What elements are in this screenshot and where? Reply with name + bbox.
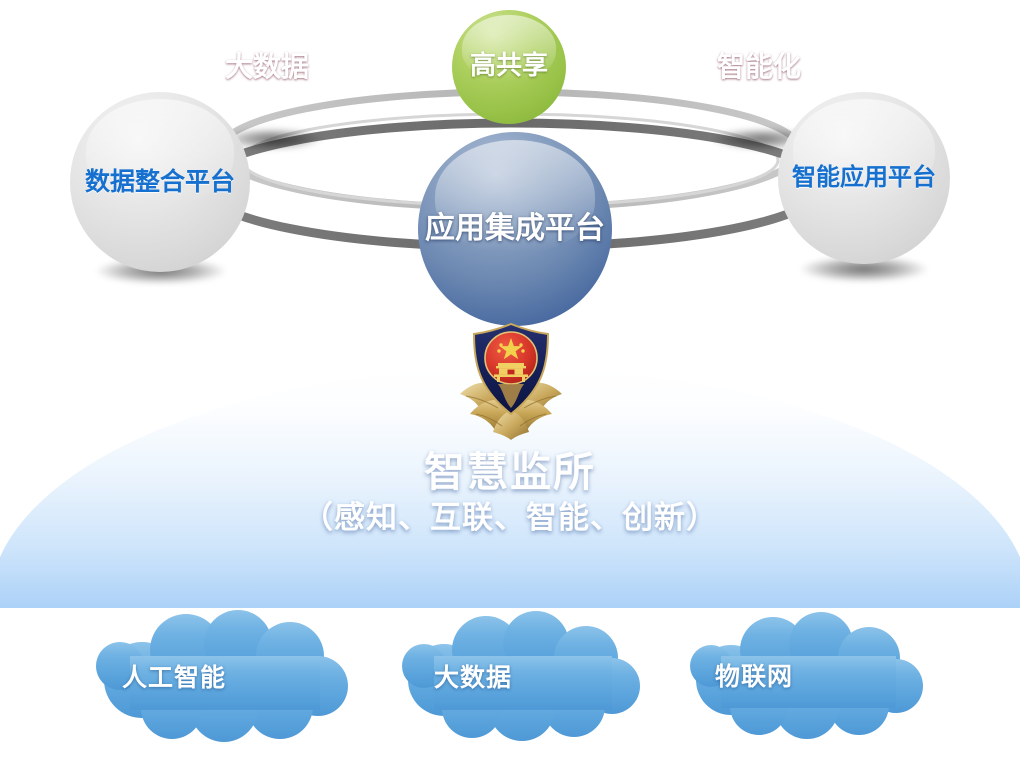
cloud-artificial-intelligence[interactable]: 人工智能 <box>90 608 355 743</box>
sphere-big-data[interactable]: 大数据 <box>205 5 329 129</box>
sphere-application-integration-platform[interactable]: 应用集成平台 <box>418 132 612 326</box>
banner-subtitle: （感知、互联、智能、创新） <box>0 498 1020 538</box>
cloud-internet-of-things[interactable]: 物联网 <box>685 610 930 740</box>
banner-title: 智慧监所 <box>0 448 1020 496</box>
sphere-label-intelligent: 智能化 <box>717 52 801 81</box>
cloud-label-big-data: 大数据 <box>396 608 646 743</box>
china-police-badge-icon <box>452 322 570 444</box>
banner-headline-group: 智慧监所 （感知、互联、智能、创新） <box>0 448 1020 539</box>
sphere-label-data-integration: 数据整合平台 <box>85 169 235 195</box>
sphere-data-integration-platform[interactable]: 数据整合平台 <box>70 92 250 272</box>
sphere-label-smart-app: 智能应用平台 <box>792 165 936 190</box>
sphere-label-high-sharing: 高共享 <box>470 53 548 80</box>
sphere-smart-application-platform[interactable]: 智能应用平台 <box>778 92 950 264</box>
diagram-canvas: 数据整合平台 大数据 高共享 智能化 智能应用平台 应用集成平台 <box>0 0 1020 768</box>
cloud-big-data[interactable]: 大数据 <box>396 608 646 743</box>
cloud-label-ai: 人工智能 <box>90 608 355 743</box>
cloud-label-iot: 物联网 <box>685 610 930 740</box>
sphere-label-big-data: 大数据 <box>225 52 309 81</box>
sphere-label-app-integration: 应用集成平台 <box>425 213 605 245</box>
sphere-intelligent[interactable]: 智能化 <box>697 5 821 129</box>
sphere-high-sharing[interactable]: 高共享 <box>452 10 566 124</box>
